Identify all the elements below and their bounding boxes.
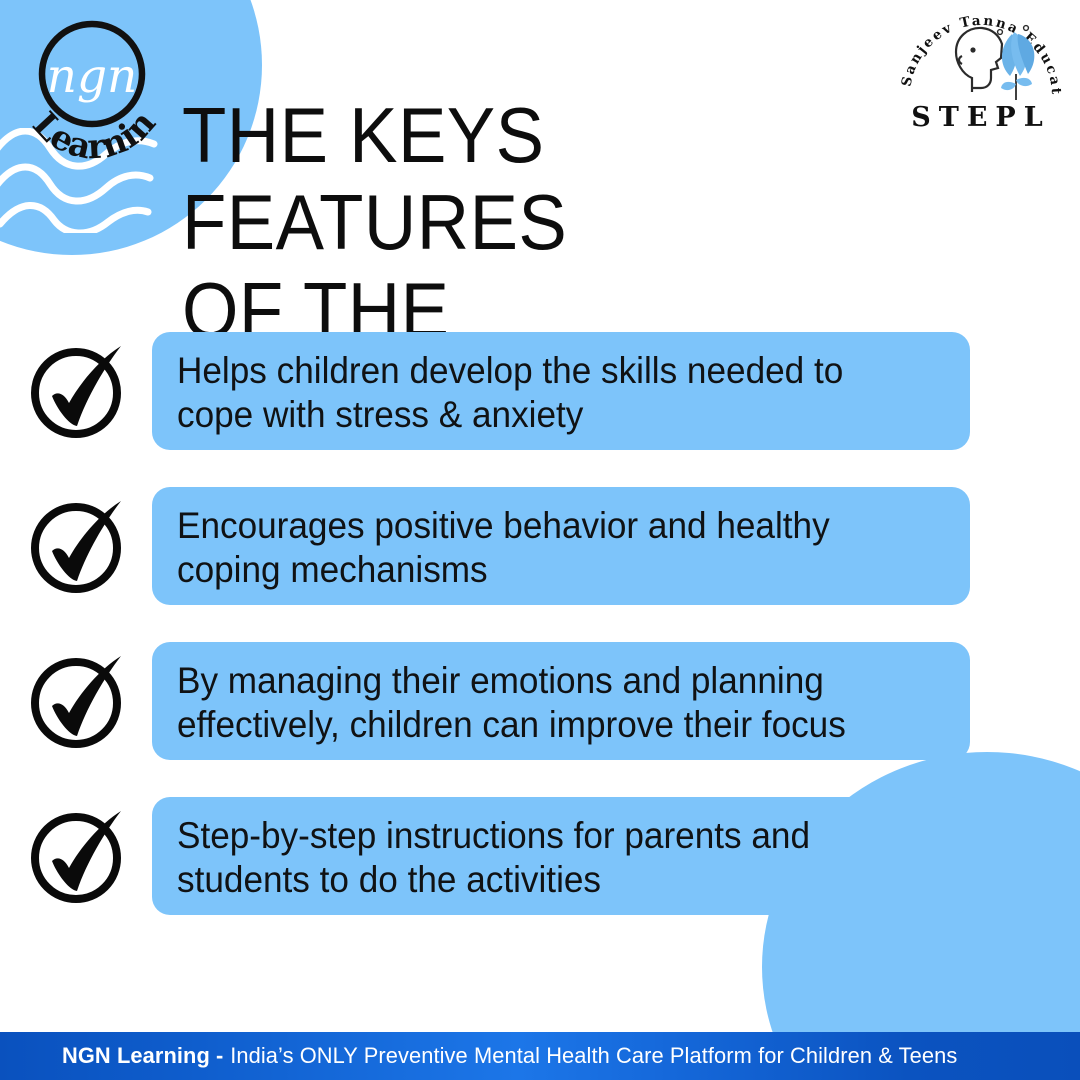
- ngn-learning-logo: ngn Learning: [8, 8, 176, 176]
- feature-text: Helps children develop the skills needed…: [177, 349, 843, 436]
- stepl-acronym: STEPL: [911, 102, 1050, 132]
- footer-brand: NGN Learning -: [62, 1043, 223, 1068]
- feature-text: Encourages positive behavior and healthy…: [177, 504, 830, 591]
- feature-pill: Encourages positive behavior and healthy…: [152, 487, 970, 605]
- feature-item-3: By managing their emotions and planning …: [0, 636, 1080, 791]
- footer-text: NGN Learning -India’s ONLY Preventive Me…: [62, 1043, 957, 1069]
- check-circle-icon: [24, 798, 136, 910]
- feature-text: Step-by-step instructions for parents an…: [177, 814, 810, 901]
- feature-pill: Step-by-step instructions for parents an…: [152, 797, 970, 915]
- stepl-arc-text: Sanjeev Tanna Education: [888, 4, 1064, 97]
- feature-pill: By managing their emotions and planning …: [152, 642, 970, 760]
- check-circle-icon: [24, 643, 136, 755]
- features-list: Helps children develop the skills needed…: [0, 326, 1080, 946]
- head-profile-icon: [956, 28, 1002, 92]
- feature-item-2: Encourages positive behavior and healthy…: [0, 481, 1080, 636]
- feature-item-1: Helps children develop the skills needed…: [0, 326, 1080, 481]
- check-circle-icon: [24, 333, 136, 445]
- logo-mark-text: ngn: [47, 49, 138, 104]
- footer-bar: NGN Learning -India’s ONLY Preventive Me…: [0, 1032, 1080, 1080]
- poster-canvas: ngn Learning Sanjeev Tanna Education: [0, 0, 1080, 1080]
- stepl-logo: Sanjeev Tanna Education STEPL: [888, 4, 1074, 132]
- check-circle-icon: [24, 488, 136, 600]
- feature-pill: Helps children develop the skills needed…: [152, 332, 970, 450]
- feature-item-4: Step-by-step instructions for parents an…: [0, 791, 1080, 946]
- footer-tagline: India’s ONLY Preventive Mental Health Ca…: [230, 1043, 957, 1068]
- feature-text: By managing their emotions and planning …: [177, 659, 846, 746]
